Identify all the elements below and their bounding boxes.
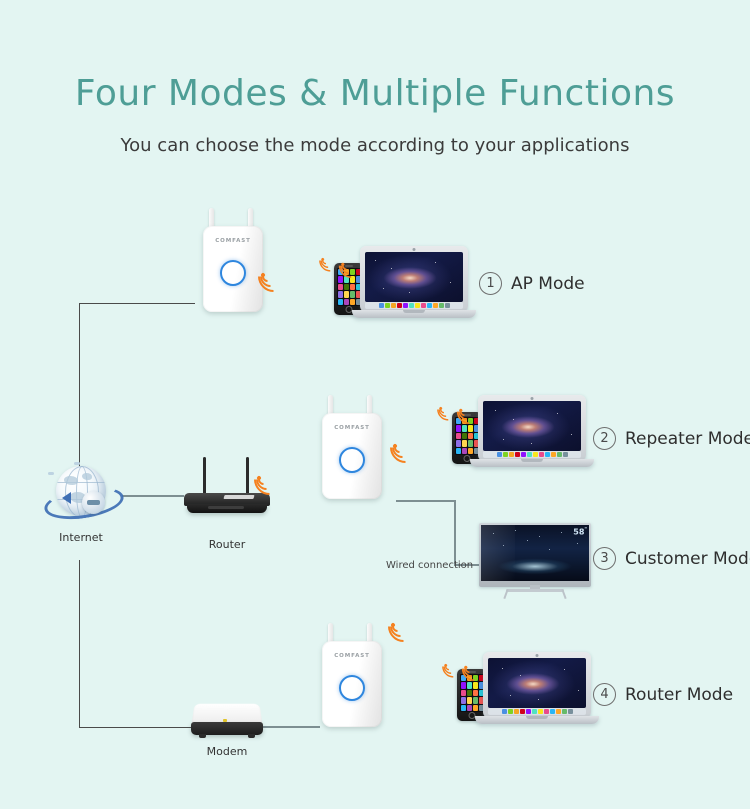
laptop-icon-ap <box>352 246 476 326</box>
mode-label-3: Customer Mode <box>625 549 750 569</box>
mode-label-4: Router Mode <box>625 685 733 705</box>
device-brand-label: COMFAST <box>322 653 382 659</box>
wire-internet-to-ap-vertical <box>79 303 80 473</box>
extender-device-router-mode: COMFAST <box>322 623 382 727</box>
router-label: Router <box>182 538 272 551</box>
device-brand-label: COMFAST <box>203 238 263 244</box>
mode-number-3: 3 <box>593 547 616 570</box>
modem-label: Modem <box>183 745 271 758</box>
modem-icon <box>191 703 263 743</box>
mode-item-router[interactable]: 4 Router Mode <box>593 683 733 706</box>
wire-internet-to-modem-vertical <box>79 560 80 728</box>
tv-size-badge: 58" <box>573 527 587 537</box>
wire-repeater-branch-vertical <box>454 500 456 566</box>
device-led-ring <box>339 447 365 473</box>
mode-item-customer[interactable]: 3 Customer Mode <box>593 547 750 570</box>
wire-repeater-branch-top <box>396 500 456 502</box>
mode-item-repeater[interactable]: 2 Repeater Mode <box>593 427 750 450</box>
extender-device-repeater-mode: COMFAST <box>322 395 382 499</box>
mode-label-1: AP Mode <box>511 274 585 294</box>
wire-internet-to-ap-horizontal <box>79 303 195 304</box>
internet-label: Internet <box>34 531 128 544</box>
wire-internet-to-router <box>122 495 184 497</box>
mode-item-ap[interactable]: 1 AP Mode <box>479 272 585 295</box>
wire-modem-to-router-mode-device <box>258 726 320 728</box>
diagram-canvas: Four Modes & Multiple Functions You can … <box>0 0 750 809</box>
extender-device-ap-mode: COMFAST <box>203 208 263 312</box>
laptop-icon-router-mode <box>475 652 599 732</box>
mode-label-2: Repeater Mode <box>625 429 750 449</box>
wire-internet-to-modem-horizontal <box>79 727 191 728</box>
mode-number-1: 1 <box>479 272 502 295</box>
tv-icon-customer: 58" <box>479 523 591 601</box>
laptop-icon-repeater <box>470 395 594 475</box>
device-led-ring <box>220 260 246 286</box>
page-subtitle: You can choose the mode according to you… <box>0 135 750 156</box>
mode-number-2: 2 <box>593 427 616 450</box>
device-brand-label: COMFAST <box>322 425 382 431</box>
mode-number-4: 4 <box>593 683 616 706</box>
globe-icon <box>44 462 118 524</box>
device-led-ring <box>339 675 365 701</box>
page-title: Four Modes & Multiple Functions <box>0 73 750 114</box>
wired-connection-label: Wired connection <box>386 560 473 571</box>
